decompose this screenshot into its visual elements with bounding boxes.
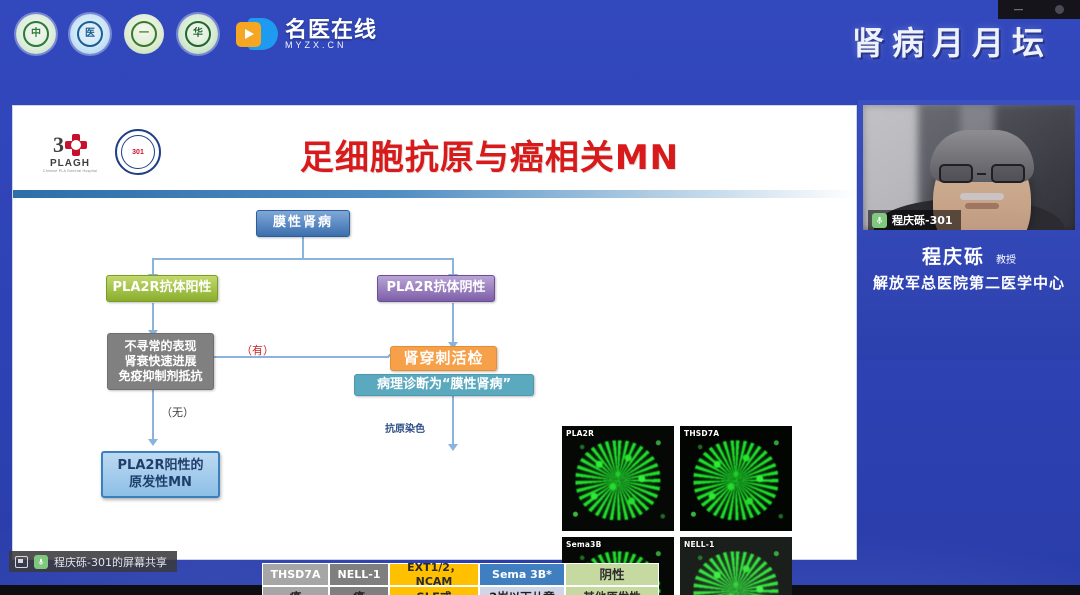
presenter-glasses	[939, 164, 1025, 184]
minimize-icon[interactable]: —	[1014, 5, 1023, 14]
org-logo-2: 医	[70, 14, 110, 54]
micrograph-sema3b-label: Sema3B	[566, 540, 602, 549]
presenter-title: 教授	[996, 255, 1016, 266]
table-cell-nell1: 癌 相关	[329, 586, 389, 595]
micrograph-thsd7a-label: THSD7A	[684, 429, 719, 438]
flow-node-renal-biopsy: 肾穿刺活检	[390, 346, 497, 371]
window-controls[interactable]: —	[998, 0, 1080, 19]
arrow-atypical-down	[148, 439, 158, 446]
table-header-row: THSD7A NELL-1 EXT1/2，NCAM Sema 3B* 阴性	[262, 563, 659, 586]
flow-node-pathologic-diagnosis: 病理诊断为“膜性肾病”	[354, 374, 534, 396]
presenter-video[interactable]: 程庆砾-301	[863, 105, 1075, 230]
org-logo-2-mark: 医	[77, 21, 103, 47]
presenter-name: 程庆砾	[922, 246, 985, 268]
table-cell-sema3b: 2岁以下儿童 发病	[479, 586, 565, 595]
event-title: 肾病月月坛	[852, 18, 1052, 64]
org-logo-4: 华	[178, 14, 218, 54]
myzx-logo: 名医在线 MYZX.CN	[236, 18, 377, 51]
micrograph-thsd7a: THSD7A	[680, 426, 792, 531]
table-cell-negative: 其他原发性 或继发性MN	[565, 586, 659, 595]
micrograph-pla2r: PLA2R	[562, 426, 674, 531]
antigen-result-table: THSD7A NELL-1 EXT1/2，NCAM Sema 3B* 阴性 癌 …	[262, 563, 659, 595]
share-microphone-icon	[34, 555, 48, 569]
screen-share-bar: 程庆砾-301的屏幕共享	[9, 551, 177, 572]
flow-label-yes: （有）	[241, 342, 274, 358]
flow-node-primary-mn: PLA2R阳性的 原发性MN	[101, 451, 220, 498]
arrow-to-table	[448, 444, 458, 451]
org-logo-3: 一	[124, 14, 164, 54]
flow-node-pla2r-negative: PLA2R抗体阴性	[377, 275, 495, 302]
brand-name-en: MYZX.CN	[285, 41, 377, 50]
table-body-row: 癌 相关 癌 相关 SLE或 自身免疫病 2岁以下儿童 发病 其他原发性 或继发…	[262, 586, 659, 595]
table-header-sema3b: Sema 3B*	[479, 563, 565, 586]
play-icon	[236, 18, 278, 50]
connector-positive-down	[152, 303, 154, 333]
presenter-affiliation: 解放军总医院第二医学中心	[858, 272, 1080, 293]
connector-root-down	[302, 236, 304, 258]
shared-screen-slide: 3 PLAGH Chinese PLA General Hospital 301…	[12, 105, 857, 560]
presenter-moustache	[960, 193, 1004, 200]
presenter-name-row: 程庆砾 教授	[858, 242, 1080, 269]
slide-body: 膜性肾病 PLA2R抗体阳性 PLA2R抗体阴性 不寻常的表现 肾衰快速进展 免…	[13, 198, 856, 561]
table-header-ext1-ncam: EXT1/2，NCAM	[389, 563, 479, 586]
slide-header-divider	[13, 190, 856, 198]
connector-diagnosis-down	[452, 396, 454, 416]
flow-label-no: （无）	[161, 404, 194, 420]
microphone-icon	[872, 213, 887, 228]
table-cell-ext1-ncam: SLE或 自身免疫病	[389, 586, 479, 595]
screen-share-icon	[15, 556, 28, 568]
table-header-nell1: NELL-1	[329, 563, 389, 586]
share-bar-text: 程庆砾-301的屏幕共享	[54, 554, 167, 570]
presenter-mouth	[965, 203, 999, 209]
micrograph-nell1: NELL-1	[680, 537, 792, 595]
brand-name-cn: 名医在线	[285, 18, 377, 41]
video-name-badge: 程庆砾-301	[868, 210, 961, 230]
flow-node-membranous-nephropathy: 膜性肾病	[256, 210, 350, 237]
slide-header: 3 PLAGH Chinese PLA General Hospital 301…	[13, 106, 856, 198]
presenter-panel[interactable]: 程庆砾-301 程庆砾 教授 解放军总医院第二医学中心	[858, 100, 1080, 360]
connector-split-horizontal	[152, 258, 454, 260]
org-logo-4-mark: 华	[185, 21, 211, 47]
table-header-negative: 阴性	[565, 563, 659, 586]
close-icon[interactable]	[1055, 5, 1064, 14]
table-header-thsd7a: THSD7A	[262, 563, 329, 586]
table-cell-thsd7a: 癌 相关	[262, 586, 329, 595]
flow-label-antigen-stain: 抗原染色	[385, 420, 425, 435]
micrograph-nell1-label: NELL-1	[684, 540, 715, 549]
connector-negative-down	[452, 303, 454, 345]
org-logo-1-mark: 中	[23, 21, 49, 47]
flow-node-atypical-features: 不寻常的表现 肾衰快速进展 免疫抑制剂抵抗	[107, 333, 214, 390]
flow-node-pla2r-positive: PLA2R抗体阳性	[106, 275, 218, 302]
micrograph-pla2r-label: PLA2R	[566, 429, 594, 438]
video-badge-name: 程庆砾-301	[892, 212, 953, 228]
org-logo-1: 中	[16, 14, 56, 54]
org-logo-3-mark: 一	[131, 21, 157, 47]
brand-bar: 中 医 一 华 名医在线 MYZX.CN	[16, 14, 377, 54]
slide-title: 足细胞抗原与癌相关MN	[13, 130, 856, 179]
connector-atypical-down	[152, 390, 154, 442]
